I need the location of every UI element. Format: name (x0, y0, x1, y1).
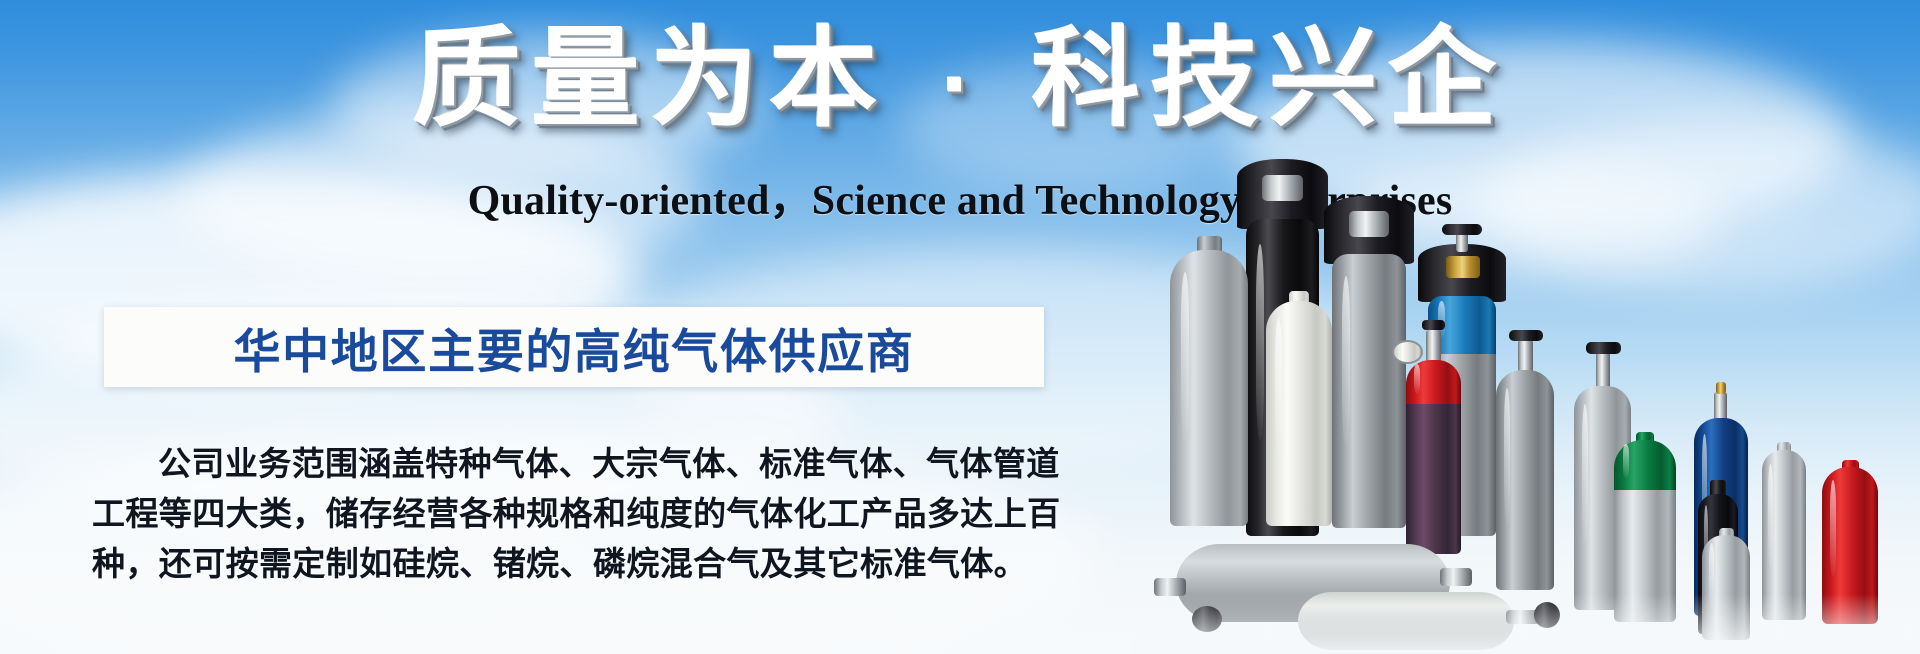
chrome-valve-body (1426, 330, 1441, 362)
pressure-gauge (1392, 340, 1423, 364)
chrome-valve-body (1596, 352, 1610, 390)
valve-handwheel (1422, 320, 1445, 330)
cylinder-shoulder (1614, 440, 1676, 494)
tall-grey-cylinder (1332, 198, 1406, 528)
slogan-text: 华中地区主要的高纯气体供应商 (233, 313, 914, 382)
photo-bottom-fade (1130, 594, 1920, 654)
valve-handwheel (1509, 330, 1543, 341)
gas-cylinder-group-photo (1150, 165, 1920, 654)
cylinder-body (1406, 404, 1461, 554)
banner-paragraph: 公司业务范围涵盖特种气体、大宗气体、标准气体、气体管道 工程等四大类，储存经营各… (92, 440, 1052, 590)
cylinder-highlight (1830, 480, 1836, 577)
cylinder-highlight (1256, 244, 1264, 441)
headline-separator-dot: · (937, 42, 984, 128)
white-cylinder (1266, 291, 1332, 526)
cylinder-highlight (1342, 276, 1350, 446)
chrome-valve-body (1518, 340, 1533, 374)
chrome-valve-insert (1262, 175, 1303, 201)
cylinder-highlight (1275, 319, 1282, 459)
tank-right-nozzle (1440, 568, 1472, 586)
banner-headline: 质量为本 · 科技兴企 (0, 22, 1920, 139)
paragraph-line-1: 公司业务范围涵盖特种气体、大宗气体、标准气体、气体管道 (92, 440, 1052, 490)
grey-valve-cylinder (1496, 366, 1554, 590)
cylinder-highlight (1181, 272, 1190, 443)
paragraph-line-3: 种，还可按需定制如硅烷、锗烷、磷烷混合气及其它标准气体。 (92, 540, 1052, 590)
slogan-banner-box: 华中地区主要的高纯气体供应商 (104, 307, 1044, 387)
chrome-valve-insert (1349, 211, 1389, 237)
headline-left: 质量为本 (413, 17, 888, 142)
headline-right: 科技兴企 (1032, 17, 1507, 142)
valve-handwheel (1442, 224, 1482, 235)
brass-valve (1446, 256, 1480, 278)
cylinder-highlight (1768, 464, 1773, 569)
grey-domed-cylinder (1170, 236, 1248, 526)
paragraph-line-2: 工程等四大类，储存经营各种规格和纯度的气体化工产品多达上百 (92, 490, 1052, 540)
cylinder-shoulder (1406, 360, 1461, 408)
cylinder-highlight (1504, 388, 1510, 524)
cylinder-body (1496, 370, 1554, 590)
valve-handwheel (1586, 342, 1621, 354)
cylinder-highlight (1414, 364, 1420, 394)
cylinder-body (1266, 301, 1332, 526)
cylinder-highlight (1623, 444, 1630, 477)
red-purple-cylinder (1406, 354, 1461, 554)
cylinder-highlight (1582, 404, 1588, 543)
valve-cap (1716, 382, 1726, 394)
cylinder-body (1332, 254, 1406, 528)
cylinder-body (1170, 250, 1248, 526)
hero-banner: 质量为本 · 科技兴企 Quality-oriented，Science and… (0, 0, 1920, 654)
